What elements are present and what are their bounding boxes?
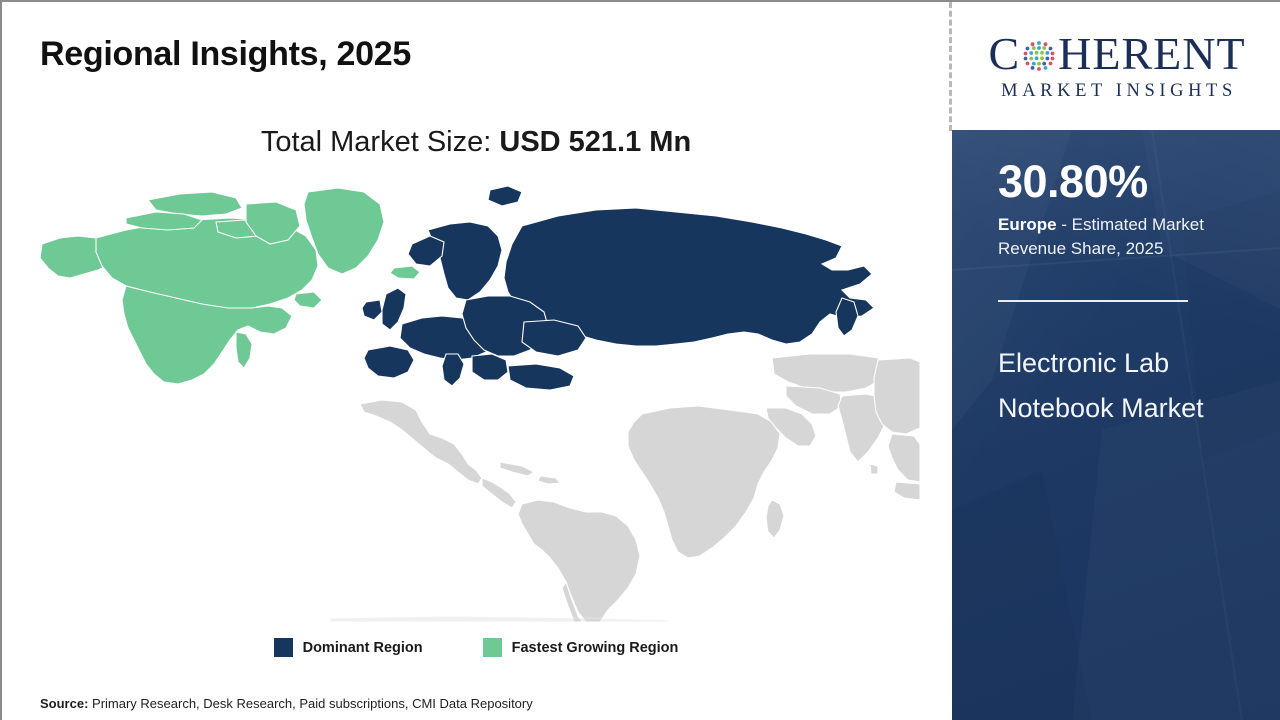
legend-label-fastest-growing: Fastest Growing Region [512,640,679,656]
region-indonesia [894,482,920,500]
market-name: Electronic Lab Notebook Market [998,341,1228,433]
source-note: Source: Primary Research, Desk Research,… [40,696,533,711]
stat-description: Europe - Estimated Market Revenue Share,… [998,213,1230,261]
stat-value: 30.80% [998,158,1258,205]
country-ireland [362,300,382,320]
logo-word-herent: HERENT [1058,31,1245,77]
region-iceland [390,266,420,279]
legend-label-dominant: Dominant Region [303,640,423,656]
market-size-value: USD 521.1 Mn [499,126,691,158]
region-southeast-asia [888,434,920,482]
region-svalbard [488,186,522,206]
region-florida [236,332,252,368]
region-ukraine-belarus [522,320,586,356]
world-map [30,182,920,622]
legend-item-dominant: Dominant Region [274,638,423,657]
map-fastest-growing-region [40,188,420,384]
country-china [874,358,920,434]
region-kamchatka [836,298,858,336]
panel-divider-rule [998,300,1188,302]
country-sri-lanka [870,464,878,474]
region-antarctic-edge [330,616,670,622]
country-italy [442,354,464,386]
regional-insights-infographic: Regional Insights, 2025 Total Market Siz… [0,0,1280,720]
continent-south-america [518,500,640,622]
region-scandinavia [428,222,502,300]
source-label: Source: [40,696,88,711]
logo-wordmark: C [988,31,1245,77]
total-market-size: Total Market Size: USD 521.1 Mn [2,126,950,159]
source-text: Primary Research, Desk Research, Paid su… [92,696,533,711]
country-central-america [482,478,516,508]
market-size-label: Total Market Size: [261,126,491,158]
region-iberia [364,346,414,378]
legend-item-fastest-growing: Fastest Growing Region [483,638,679,657]
country-hispaniola [538,476,560,484]
highlight-panel: 30.80% Europe - Estimated Market Revenue… [952,130,1280,720]
dominant-region-swatch [274,638,293,657]
fastest-growing-region-swatch [483,638,502,657]
brand-logo: C [952,2,1280,130]
map-legend: Dominant Region Fastest Growing Region [2,638,950,657]
country-cuba [500,462,534,476]
country-turkey [508,364,574,390]
country-madagascar [766,500,784,538]
world-map-svg [30,182,920,622]
country-mexico [360,400,482,484]
continent-africa [628,406,780,558]
stat-region-name: Europe [998,215,1057,234]
logo-letter-c: C [988,31,1020,77]
page-title: Regional Insights, 2025 [40,35,411,74]
map-base-regions [330,354,920,622]
dotted-globe-icon [1021,38,1057,74]
left-content-panel: Regional Insights, 2025 Total Market Siz… [2,2,950,720]
logo-subtitle: MARKET INSIGHTS [997,81,1237,102]
region-balkans [472,354,508,380]
country-norway-coast [408,236,444,266]
highlight-panel-content: 30.80% Europe - Estimated Market Revenue… [952,130,1280,432]
region-newfoundland [294,292,322,308]
